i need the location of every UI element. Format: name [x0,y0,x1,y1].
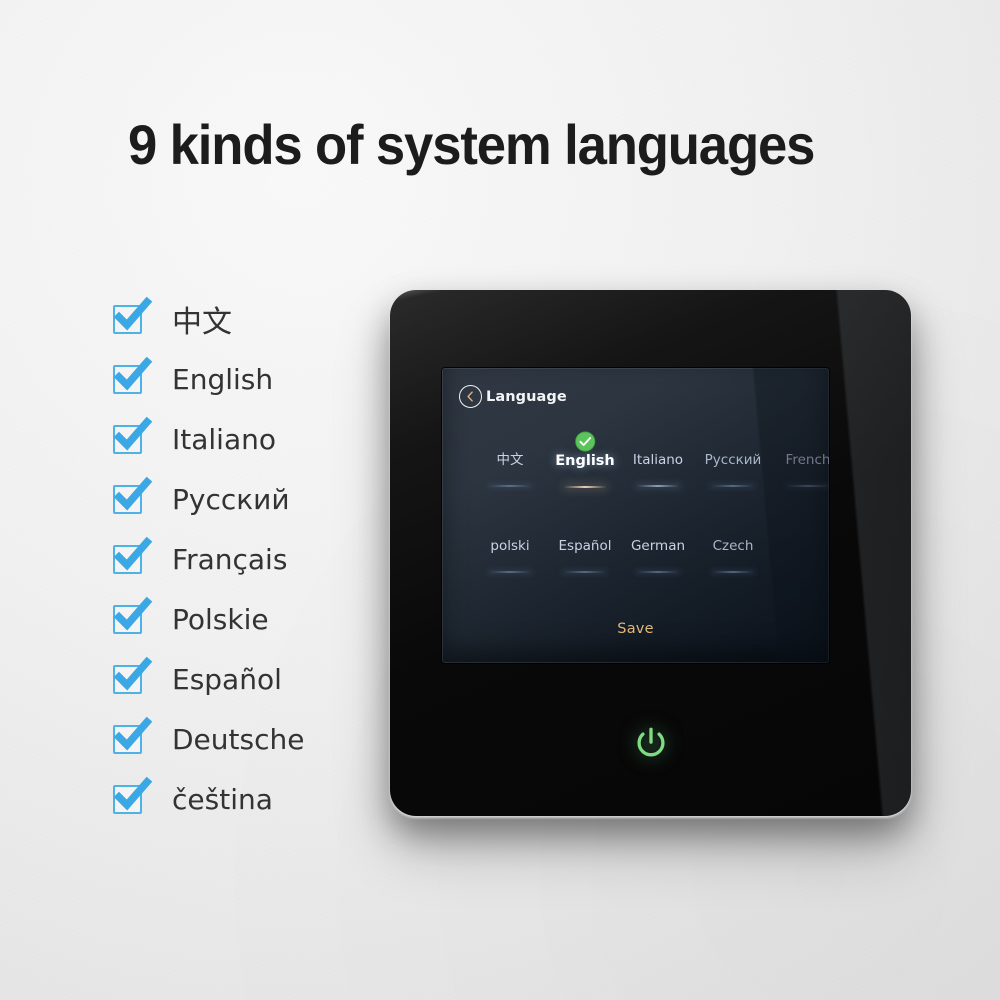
list-item: Deutsche [113,709,383,769]
list-item-label: Italiano [172,423,276,456]
checkbox-checked[interactable] [113,605,142,634]
checkbox-checked[interactable] [113,725,142,754]
language-option-russian[interactable]: Русский [705,454,762,487]
device-screen: Language 中文 English [442,368,829,663]
list-item: Italiano [113,409,383,469]
list-item: 中文 [113,289,383,349]
list-item: English [113,349,383,409]
check-icon [114,658,150,694]
language-option-italiano[interactable]: Italiano [633,454,683,487]
power-icon [629,722,673,766]
language-option-polski[interactable]: polski [487,540,533,573]
language-option-label: Czech [710,540,756,554]
save-button[interactable]: Save [442,621,829,637]
language-option-french[interactable]: French [785,454,829,487]
checkbox-checked[interactable] [113,545,142,574]
screen-glare-overlay [442,368,829,663]
list-item: Русский [113,469,383,529]
language-option-underline [562,486,608,488]
checkbox-checked[interactable] [113,425,142,454]
checkbox-checked[interactable] [113,305,142,334]
language-option-german[interactable]: German [631,540,685,573]
wall-switch-panel: Language 中文 English [390,290,911,816]
check-circle-icon [574,431,595,452]
check-icon [114,598,150,634]
language-option-label: German [631,540,685,554]
page-title: 9 kinds of system languages [128,112,871,177]
checkbox-checked[interactable] [113,485,142,514]
language-option-label: 中文 [487,454,533,468]
language-option-underline [635,485,681,487]
list-item: Français [113,529,383,589]
language-option-label: polski [487,540,533,554]
language-option-label: French [785,454,829,468]
chevron-left-icon [464,390,477,403]
language-option-chinese[interactable]: 中文 [487,454,533,487]
language-option-underline [785,485,829,487]
check-icon [114,778,150,814]
language-option-label: Italiano [633,454,683,468]
list-item-label: Deutsche [172,723,304,756]
language-option-underline [487,485,533,487]
page-root: 9 kinds of system languages 中文 English [0,0,1000,1000]
language-option-espanol[interactable]: Español [559,540,612,573]
language-option-underline [487,571,533,573]
list-item-label: Русский [172,483,290,516]
list-item-label: English [172,363,273,396]
back-button[interactable] [459,385,482,408]
language-checklist: 中文 English Italiano [113,289,383,829]
check-icon [114,478,150,514]
list-item-label: Polskie [172,603,269,636]
checkbox-checked[interactable] [113,365,142,394]
check-icon [114,418,150,454]
check-icon [114,538,150,574]
check-icon [114,358,150,394]
list-item-label: Español [172,663,282,696]
language-option-english[interactable]: English [555,454,615,488]
language-option-czech[interactable]: Czech [710,540,756,573]
language-option-underline [562,571,608,573]
screen-title: Language [486,389,567,405]
checkbox-checked[interactable] [113,785,142,814]
list-item: Polskie [113,589,383,649]
language-option-label: English [555,454,615,469]
power-button[interactable] [629,722,673,766]
screen-header: Language [459,385,567,408]
language-option-underline [635,571,681,573]
check-icon [114,718,150,754]
list-item-label: 中文 [172,297,232,341]
check-icon [114,298,150,334]
checkbox-checked[interactable] [113,665,142,694]
list-item: Español [113,649,383,709]
list-item: čeština [113,769,383,829]
language-option-label: Español [559,540,612,554]
language-option-label: Русский [705,454,762,468]
list-item-label: čeština [172,783,273,816]
language-option-underline [710,571,756,573]
language-option-underline [710,485,756,487]
list-item-label: Français [172,543,287,576]
